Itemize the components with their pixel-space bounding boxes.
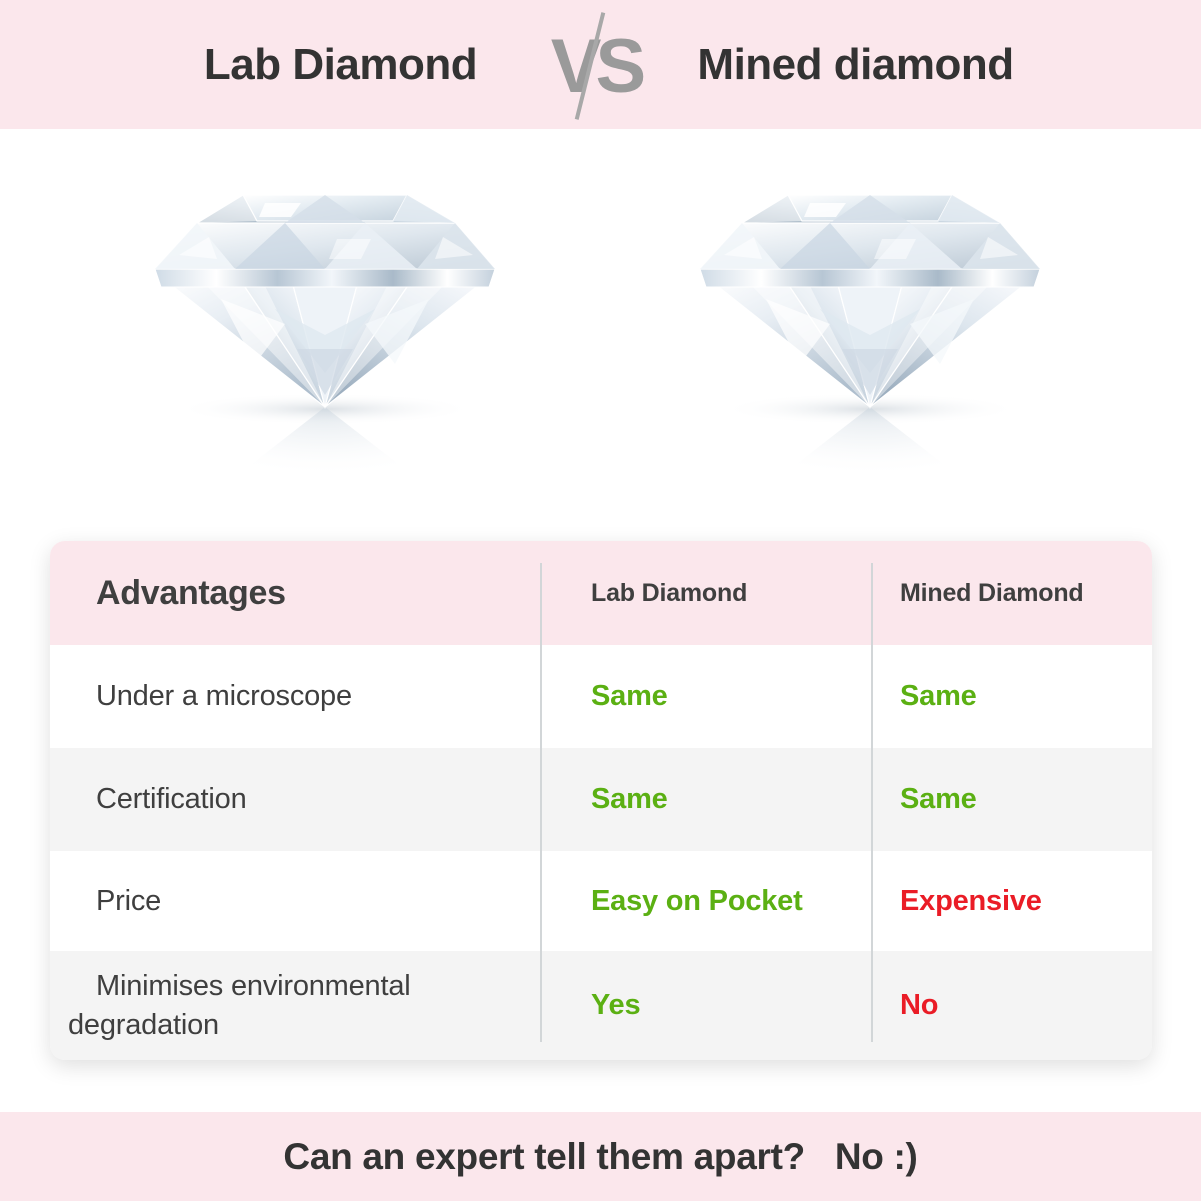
- row-value-lab: Yes: [541, 989, 872, 1022]
- row-value-lab: Same: [541, 783, 872, 816]
- diamond-illustration: [125, 159, 525, 489]
- page-title-lab-diamond: Lab Diamond: [146, 40, 536, 90]
- row-value-lab: Easy on Pocket: [541, 885, 872, 918]
- table-row: Under a microscope Same Same: [50, 645, 1152, 748]
- mined-diamond-photo: [670, 159, 1070, 489]
- lab-diamond-photo: [125, 159, 525, 489]
- vs-icon: VS: [536, 5, 656, 125]
- column-header-mined-diamond: Mined Diamond: [872, 579, 1152, 608]
- row-value-lab: Same: [541, 680, 872, 713]
- header-band: Lab Diamond VS Mined diamond: [0, 0, 1201, 129]
- row-value-mined: No: [872, 989, 1152, 1022]
- row-value-mined: Same: [872, 783, 1152, 816]
- column-header-advantages: Advantages: [50, 574, 541, 613]
- column-header-lab-diamond: Lab Diamond: [541, 579, 872, 608]
- row-value-mined: Same: [872, 680, 1152, 713]
- row-feature-label: Under a microscope: [50, 677, 541, 715]
- comparison-table-card: Advantages Lab Diamond Mined Diamond Und…: [50, 541, 1152, 1060]
- row-value-mined: Expensive: [872, 885, 1152, 918]
- row-feature-label: Price: [50, 882, 541, 920]
- table-row: Certification Same Same: [50, 748, 1152, 851]
- row-feature-label: Certification: [50, 780, 541, 818]
- table-header-row: Advantages Lab Diamond Mined Diamond: [50, 541, 1152, 645]
- footer-band: Can an expert tell them apart? No :): [0, 1112, 1201, 1201]
- table-row: Price Easy on Pocket Expensive: [50, 851, 1152, 951]
- table-row: Minimises environmental degradation Yes …: [50, 951, 1152, 1060]
- diamond-image-stage: [0, 129, 1201, 529]
- diamond-illustration: [670, 159, 1070, 489]
- row-feature-label: Minimises environmental degradation: [50, 967, 541, 1044]
- footer-question-answer: Can an expert tell them apart? No :): [283, 1136, 917, 1178]
- page-title-mined-diamond: Mined diamond: [656, 40, 1056, 90]
